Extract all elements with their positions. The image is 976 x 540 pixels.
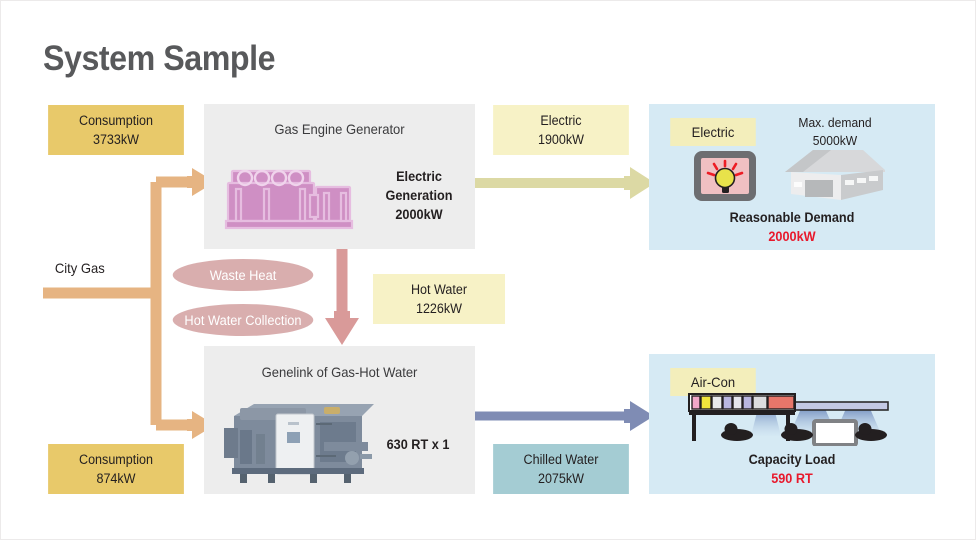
air-conditioning-room-icon <box>685 384 891 446</box>
reasonable-demand-value: 2000kW <box>658 227 927 246</box>
generator-spec-line2: Generation <box>374 186 464 205</box>
chilled-water-flow-name: Chilled Water <box>524 450 599 469</box>
gas-engine-generator-panel: Gas Engine Generator <box>204 104 475 249</box>
electric-flow-value: 1900kW <box>538 130 584 149</box>
gas-engine-icon <box>224 159 364 239</box>
waste-heat-callout: Waste Heat <box>173 259 314 291</box>
reasonable-demand-block: Reasonable Demand 2000kW <box>658 208 927 246</box>
chiller-spec: 630 RT x 1 <box>371 435 465 454</box>
electric-badge-label: Electric <box>692 123 735 142</box>
gas-engine-generator-title: Gas Engine Generator <box>213 121 465 137</box>
top-consumption-name: Consumption <box>79 111 153 130</box>
max-demand-block: Max. demand 5000kW <box>783 114 887 150</box>
capacity-load-value: 590 RT <box>658 469 927 488</box>
hot-water-collection-callout: Hot Water Collection <box>173 304 314 336</box>
light-bulb-icon <box>693 150 757 202</box>
slide-canvas: System Sample Consumption 37 <box>0 0 976 540</box>
reasonable-demand-label: Reasonable Demand <box>658 208 927 227</box>
max-demand-value: 5000kW <box>783 132 887 150</box>
genelink-chiller-panel: Genelink of Gas-Hot Water <box>204 346 475 494</box>
hot-water-flow-arrow <box>325 249 359 345</box>
hot-water-collection-label: Hot Water Collection <box>184 313 301 328</box>
top-consumption-label: Consumption 3733kW <box>48 105 184 155</box>
top-consumption-value: 3733kW <box>93 130 139 149</box>
city-gas-label: City Gas <box>55 260 105 276</box>
city-gas-arrow <box>43 168 215 439</box>
chilled-water-flow-value: 2075kW <box>538 469 584 488</box>
waste-heat-label: Waste Heat <box>210 268 277 283</box>
bottom-consumption-label: Consumption 874kW <box>48 444 184 494</box>
hot-water-flow-label: Hot Water 1226kW <box>373 274 505 324</box>
hot-water-flow-name: Hot Water <box>411 280 467 299</box>
generator-spec-line3: 2000kW <box>374 205 464 224</box>
capacity-load-label: Capacity Load <box>658 450 927 469</box>
bottom-consumption-name: Consumption <box>79 450 153 469</box>
electric-flow-name: Electric <box>540 111 581 130</box>
electric-flow-arrow <box>475 167 655 199</box>
chilled-water-flow-arrow <box>475 401 654 431</box>
bottom-consumption-value: 874kW <box>96 469 135 488</box>
electric-demand-panel: Electric <box>649 104 935 250</box>
factory-building-icon <box>779 142 891 204</box>
aircon-panel: Air-Con <box>649 354 935 494</box>
generator-spec: Electric Generation 2000kW <box>374 167 464 224</box>
capacity-load-block: Capacity Load 590 RT <box>658 450 927 488</box>
hot-water-flow-value: 1226kW <box>416 299 462 318</box>
absorption-chiller-icon <box>224 394 374 486</box>
chilled-water-flow-label: Chilled Water 2075kW <box>493 444 629 494</box>
electric-badge: Electric <box>670 118 756 146</box>
generator-spec-line1: Electric <box>374 167 464 186</box>
electric-flow-label: Electric 1900kW <box>493 105 629 155</box>
genelink-chiller-title: Genelink of Gas-Hot Water <box>213 364 465 380</box>
max-demand-label: Max. demand <box>783 114 887 132</box>
